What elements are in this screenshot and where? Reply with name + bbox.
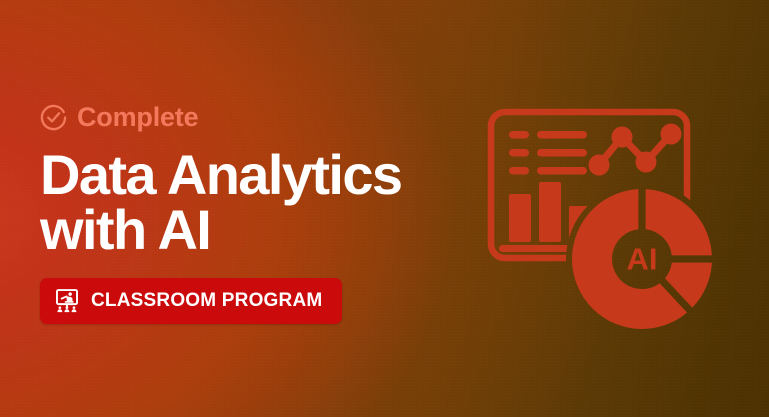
- donut-center-label: AI: [627, 242, 658, 277]
- donut-chart: AI: [572, 189, 712, 329]
- classroom-program-badge[interactable]: CLASSROOM PROGRAM: [40, 278, 342, 324]
- list-rows: [509, 131, 587, 175]
- classroom-presentation-icon: [54, 288, 80, 314]
- banner-content: Complete Data Analytics with AI: [40, 100, 510, 324]
- course-banner: Complete Data Analytics with AI: [0, 0, 769, 417]
- page-title: Data Analytics with AI: [40, 148, 510, 258]
- eyebrow: Complete: [40, 100, 510, 134]
- badge-label: CLASSROOM PROGRAM: [91, 291, 322, 310]
- check-circle-icon: [40, 104, 67, 131]
- analytics-dashboard-illustration: AI: [485, 96, 717, 332]
- eyebrow-label: Complete: [77, 104, 198, 131]
- line-chart: [589, 124, 682, 176]
